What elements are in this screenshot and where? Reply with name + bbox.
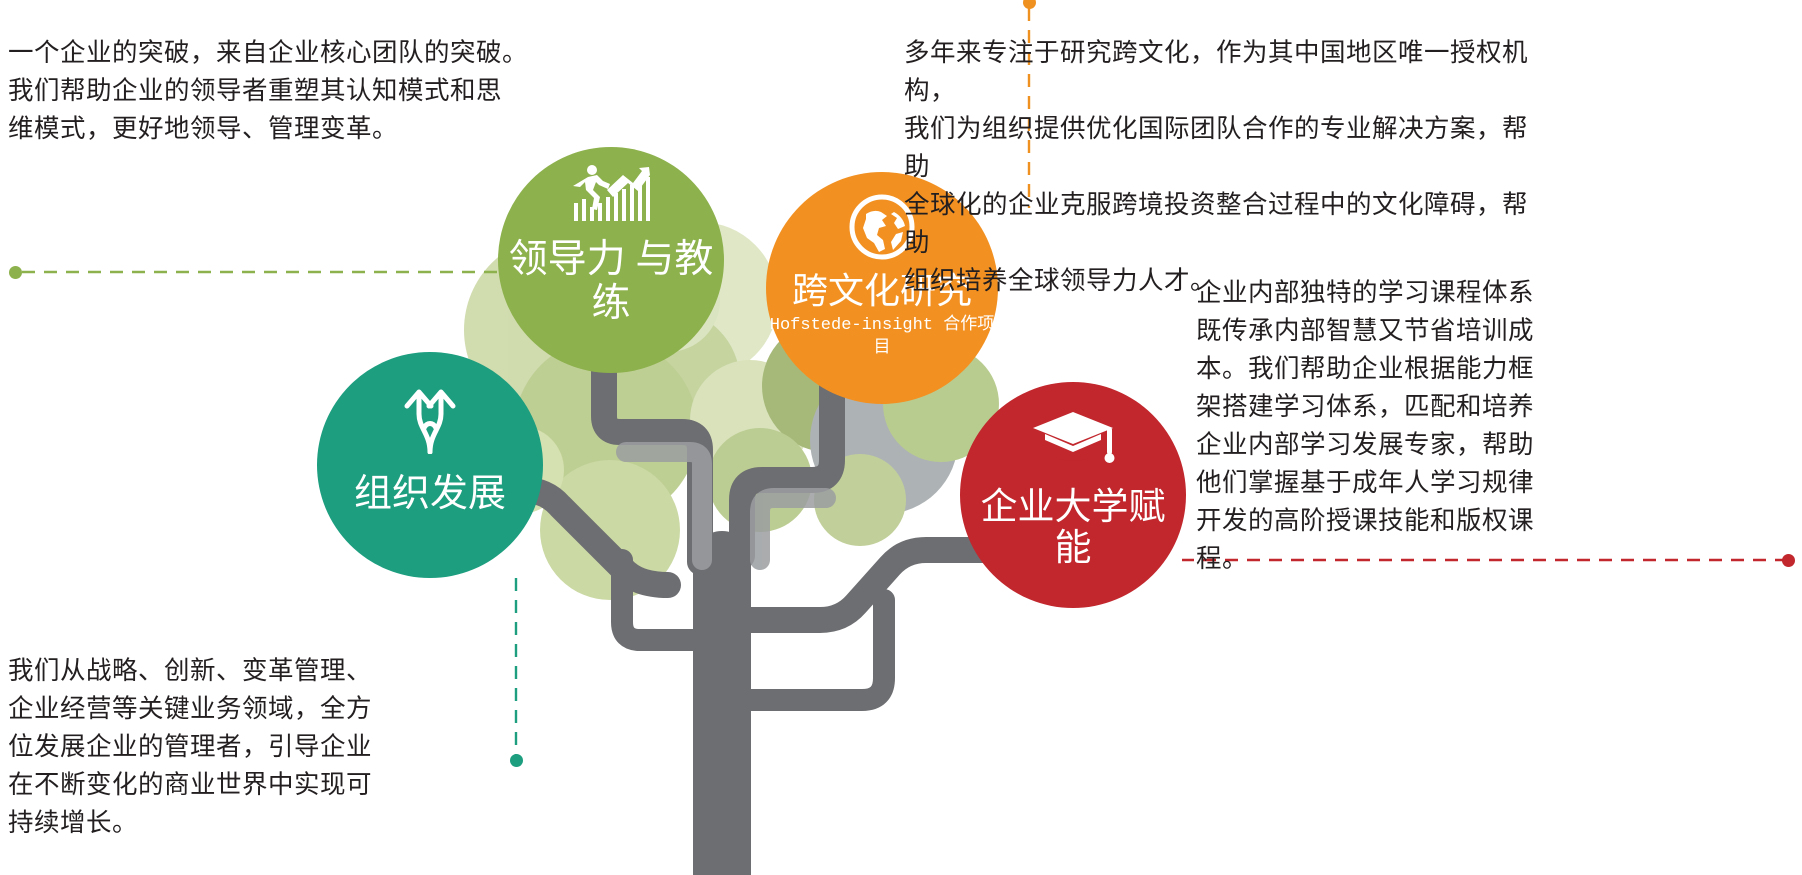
leadership-connector-dot — [9, 266, 22, 279]
node-cross-culture-subtitle: Hofstede-insight 合作项目 — [766, 315, 998, 361]
running-person-growth-chart-icon — [568, 147, 654, 228]
node-corporate-university[interactable]: 企业大学赋 能 — [960, 382, 1186, 608]
org-development-connector-dot — [510, 754, 523, 767]
node-leadership-title: 领导力 与教练 — [498, 238, 724, 325]
node-org-development-title: 组织发展 — [354, 473, 506, 516]
node-corporate-university-title: 企业大学赋 能 — [960, 487, 1186, 570]
node-org-development[interactable]: 组织发展 — [317, 352, 543, 578]
description-cross-culture: 多年来专注于研究跨文化，作为其中国地区唯一授权机构， 我们为组织提供优化国际团队… — [904, 34, 1544, 300]
graduation-cap-icon — [1031, 382, 1115, 475]
node-leadership[interactable]: 领导力 与教练 — [498, 147, 724, 373]
branching-arrows-icon — [391, 352, 469, 459]
infographic-canvas: 领导力 与教练 跨文化研究 Hofstede-insight 合作项目 — [0, 0, 1802, 875]
description-corporate-university: 企业内部独特的学习课程体系 既传承内部智慧又节省培训成 本。我们帮助企业根据能力… — [1196, 274, 1796, 578]
description-leadership: 一个企业的突破，来自企业核心团队的突破。 我们帮助企业的领导者重塑其认知模式和思… — [8, 34, 568, 148]
description-org-development: 我们从战略、创新、变革管理、 企业经营等关键业务领域，全方 位发展企业的管理者，… — [8, 652, 408, 842]
